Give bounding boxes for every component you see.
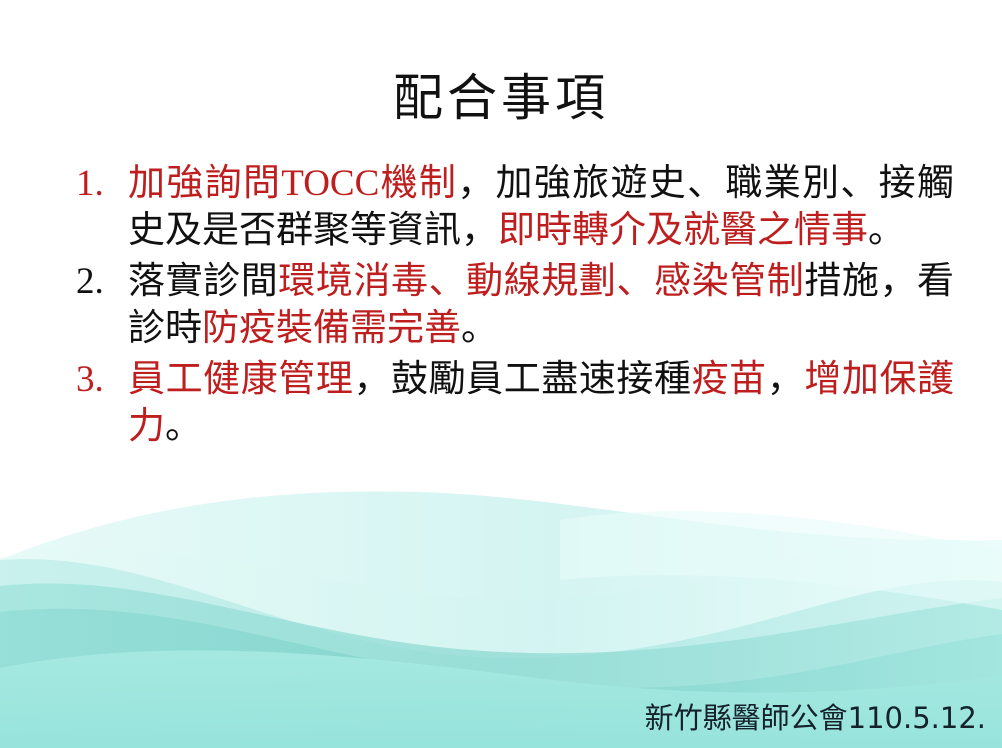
text-run-highlight: 環境消毒、動線規劃、感染管制 [278, 261, 804, 302]
presentation-slide: 配合事項 1. 加強詢問TOCC機制，加強旅遊史、職業別、接觸史及是否群聚等資訊… [0, 0, 1002, 748]
list-item-number: 2. [74, 258, 128, 305]
text-run-normal: 。 [165, 406, 202, 447]
list-item: 3. 員工健康管理，鼓勵員工盡速接種疫苗，增加保護力。 [74, 356, 954, 450]
list-item-text: 員工健康管理，鼓勵員工盡速接種疫苗，增加保護力。 [128, 356, 954, 450]
text-run-normal: 。 [461, 308, 498, 349]
text-run-highlight: 加強詢問TOCC機制 [128, 163, 457, 204]
text-run-normal: ， [767, 359, 805, 400]
list-item-number: 1. [74, 160, 128, 207]
text-run-highlight: 員工健康管理 [128, 359, 353, 400]
list-item-text: 落實診間環境消毒、動線規劃、感染管制措施，看診時防疫裝備需完善。 [128, 258, 954, 352]
page-title: 配合事項 [0, 72, 1002, 125]
footer-credit: 新竹縣醫師公會110.5.12. [645, 700, 986, 736]
list-item: 1. 加強詢問TOCC機制，加強旅遊史、職業別、接觸史及是否群聚等資訊，即時轉介… [74, 160, 954, 254]
wave-layer-7 [560, 511, 1002, 610]
content-list: 1. 加強詢問TOCC機制，加強旅遊史、職業別、接觸史及是否群聚等資訊，即時轉介… [74, 160, 954, 454]
list-item-number: 3. [74, 356, 128, 403]
text-run-normal: 。 [868, 210, 905, 251]
list-item-text: 加強詢問TOCC機制，加強旅遊史、職業別、接觸史及是否群聚等資訊，即時轉介及就醫… [128, 160, 954, 254]
text-run-normal: ，鼓勵員工盡速接種 [353, 359, 691, 400]
list-item: 2. 落實診間環境消毒、動線規劃、感染管制措施，看診時防疫裝備需完善。 [74, 258, 954, 352]
text-run-highlight: 疫苗 [692, 359, 767, 400]
text-run-highlight: 即時轉介及就醫之情事 [498, 210, 868, 251]
text-run-normal: 落實診間 [128, 261, 278, 302]
text-run-highlight: 防疫裝備需完善 [202, 308, 461, 349]
